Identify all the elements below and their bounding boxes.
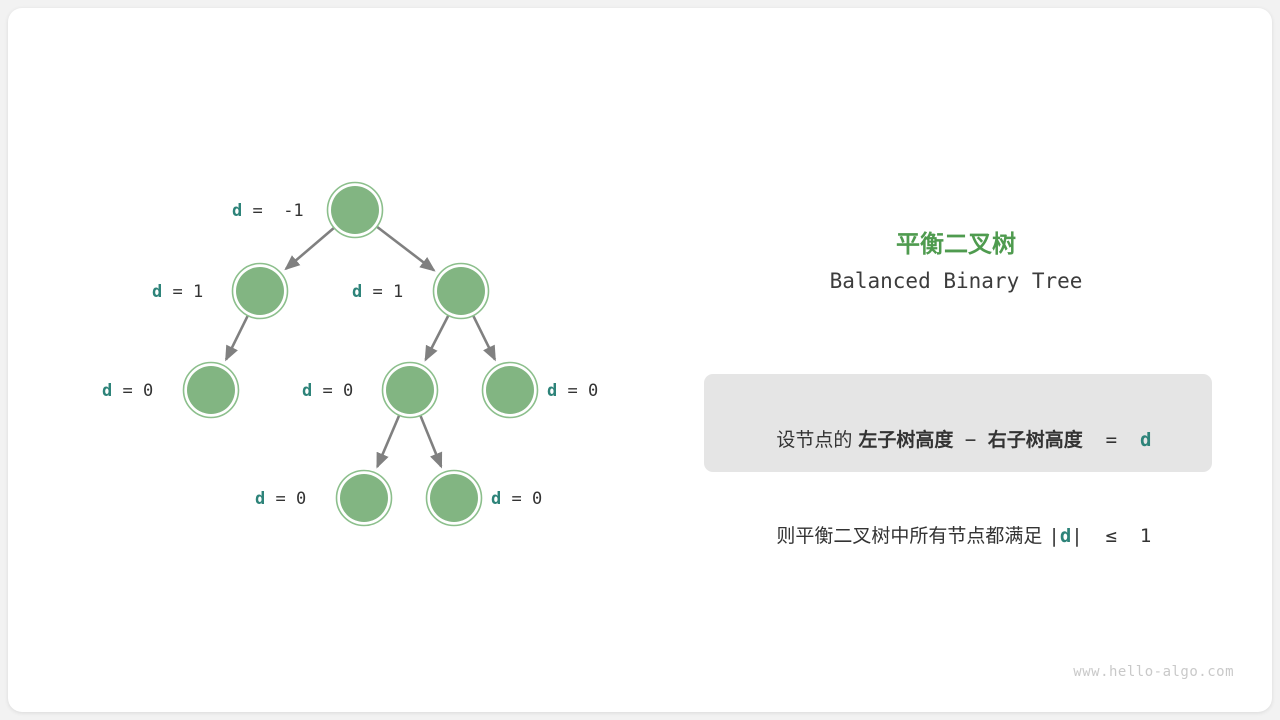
tree-node-n-rlr[interactable]	[430, 474, 478, 522]
binary-tree-canvas	[8, 8, 668, 712]
definition-line2-bar-open: |	[1048, 525, 1059, 547]
balance-factor-symbol: d	[102, 381, 112, 401]
tree-node-n-rll[interactable]	[340, 474, 388, 522]
tree-edge	[226, 316, 247, 359]
tree-node-n-ll[interactable]	[187, 366, 235, 414]
definition-line-2: 则平衡二叉树中所有节点都满足 |d| ≤ 1	[728, 488, 1188, 584]
site-watermark: www.hello-algo.com	[1073, 664, 1234, 680]
balance-factor-value: = 0	[501, 489, 542, 509]
balance-factor-value: = 0	[112, 381, 153, 401]
balance-factor-symbol: d	[232, 201, 242, 221]
balance-factor-label-n-r: d = 1	[352, 284, 403, 301]
definition-line1-operator: −	[953, 429, 987, 451]
balance-factor-label-n-l: d = 1	[152, 284, 203, 301]
diagram-card: d = -1d = 1d = 1d = 0d = 0d = 0d = 0d = …	[8, 8, 1272, 712]
definition-line2-accent-d: d	[1060, 525, 1071, 547]
tree-edge	[421, 416, 442, 467]
panel-title-en: Balanced Binary Tree	[668, 269, 1244, 294]
tree-node-layer	[184, 183, 538, 526]
tree-edge	[473, 316, 494, 359]
definition-line1-bold2: 右子树高度	[988, 429, 1083, 451]
definition-line1-equals: =	[1083, 429, 1140, 451]
definition-line-1: 设节点的 左子树高度 − 右子树高度 = d	[728, 392, 1188, 488]
balance-factor-value: = 0	[312, 381, 353, 401]
definition-line2-text1: 则平衡二叉树中所有节点都满足	[776, 525, 1048, 547]
definition-line2-inequality: ≤ 1	[1083, 525, 1152, 547]
tree-node-n-r[interactable]	[437, 267, 485, 315]
tree-edge	[377, 227, 434, 270]
balance-factor-label-n-rr: d = 0	[547, 383, 598, 400]
balance-factor-label-n-rlr: d = 0	[491, 491, 542, 508]
panel-title-cn: 平衡二叉树	[668, 230, 1244, 259]
tree-edge	[426, 316, 449, 360]
balance-factor-symbol: d	[302, 381, 312, 401]
balance-factor-label-n-rll: d = 0	[255, 491, 306, 508]
legend-panel: 平衡二叉树 Balanced Binary Tree 设节点的 左子树高度 − …	[668, 8, 1272, 712]
definition-line1-accent-d: d	[1140, 429, 1151, 451]
balance-factor-label-n-rl: d = 0	[302, 383, 353, 400]
tree-edge	[286, 228, 334, 269]
tree-node-n-rr[interactable]	[486, 366, 534, 414]
balance-factor-symbol: d	[255, 489, 265, 509]
tree-node-n-rl[interactable]	[386, 366, 434, 414]
balance-factor-symbol: d	[547, 381, 557, 401]
tree-node-n-l[interactable]	[236, 267, 284, 315]
tree-edge	[377, 416, 399, 467]
balance-factor-value: = 0	[557, 381, 598, 401]
balance-factor-value: = -1	[242, 201, 303, 221]
balance-factor-value: = 1	[362, 282, 403, 302]
definition-line2-bar-close: |	[1071, 525, 1082, 547]
balance-factor-symbol: d	[352, 282, 362, 302]
definition-line1-text1: 设节点的	[776, 429, 858, 451]
definition-line1-bold1: 左子树高度	[858, 429, 953, 451]
balance-factor-symbol: d	[491, 489, 501, 509]
tree-node-root[interactable]	[331, 186, 379, 234]
balance-factor-symbol: d	[152, 282, 162, 302]
definition-info-box: 设节点的 左子树高度 − 右子树高度 = d 则平衡二叉树中所有节点都满足 |d…	[704, 374, 1212, 472]
balance-factor-label-root: d = -1	[232, 203, 304, 220]
balance-factor-value: = 1	[162, 282, 203, 302]
balance-factor-label-n-ll: d = 0	[102, 383, 153, 400]
balance-factor-value: = 0	[265, 489, 306, 509]
tree-edge-layer	[226, 227, 495, 467]
